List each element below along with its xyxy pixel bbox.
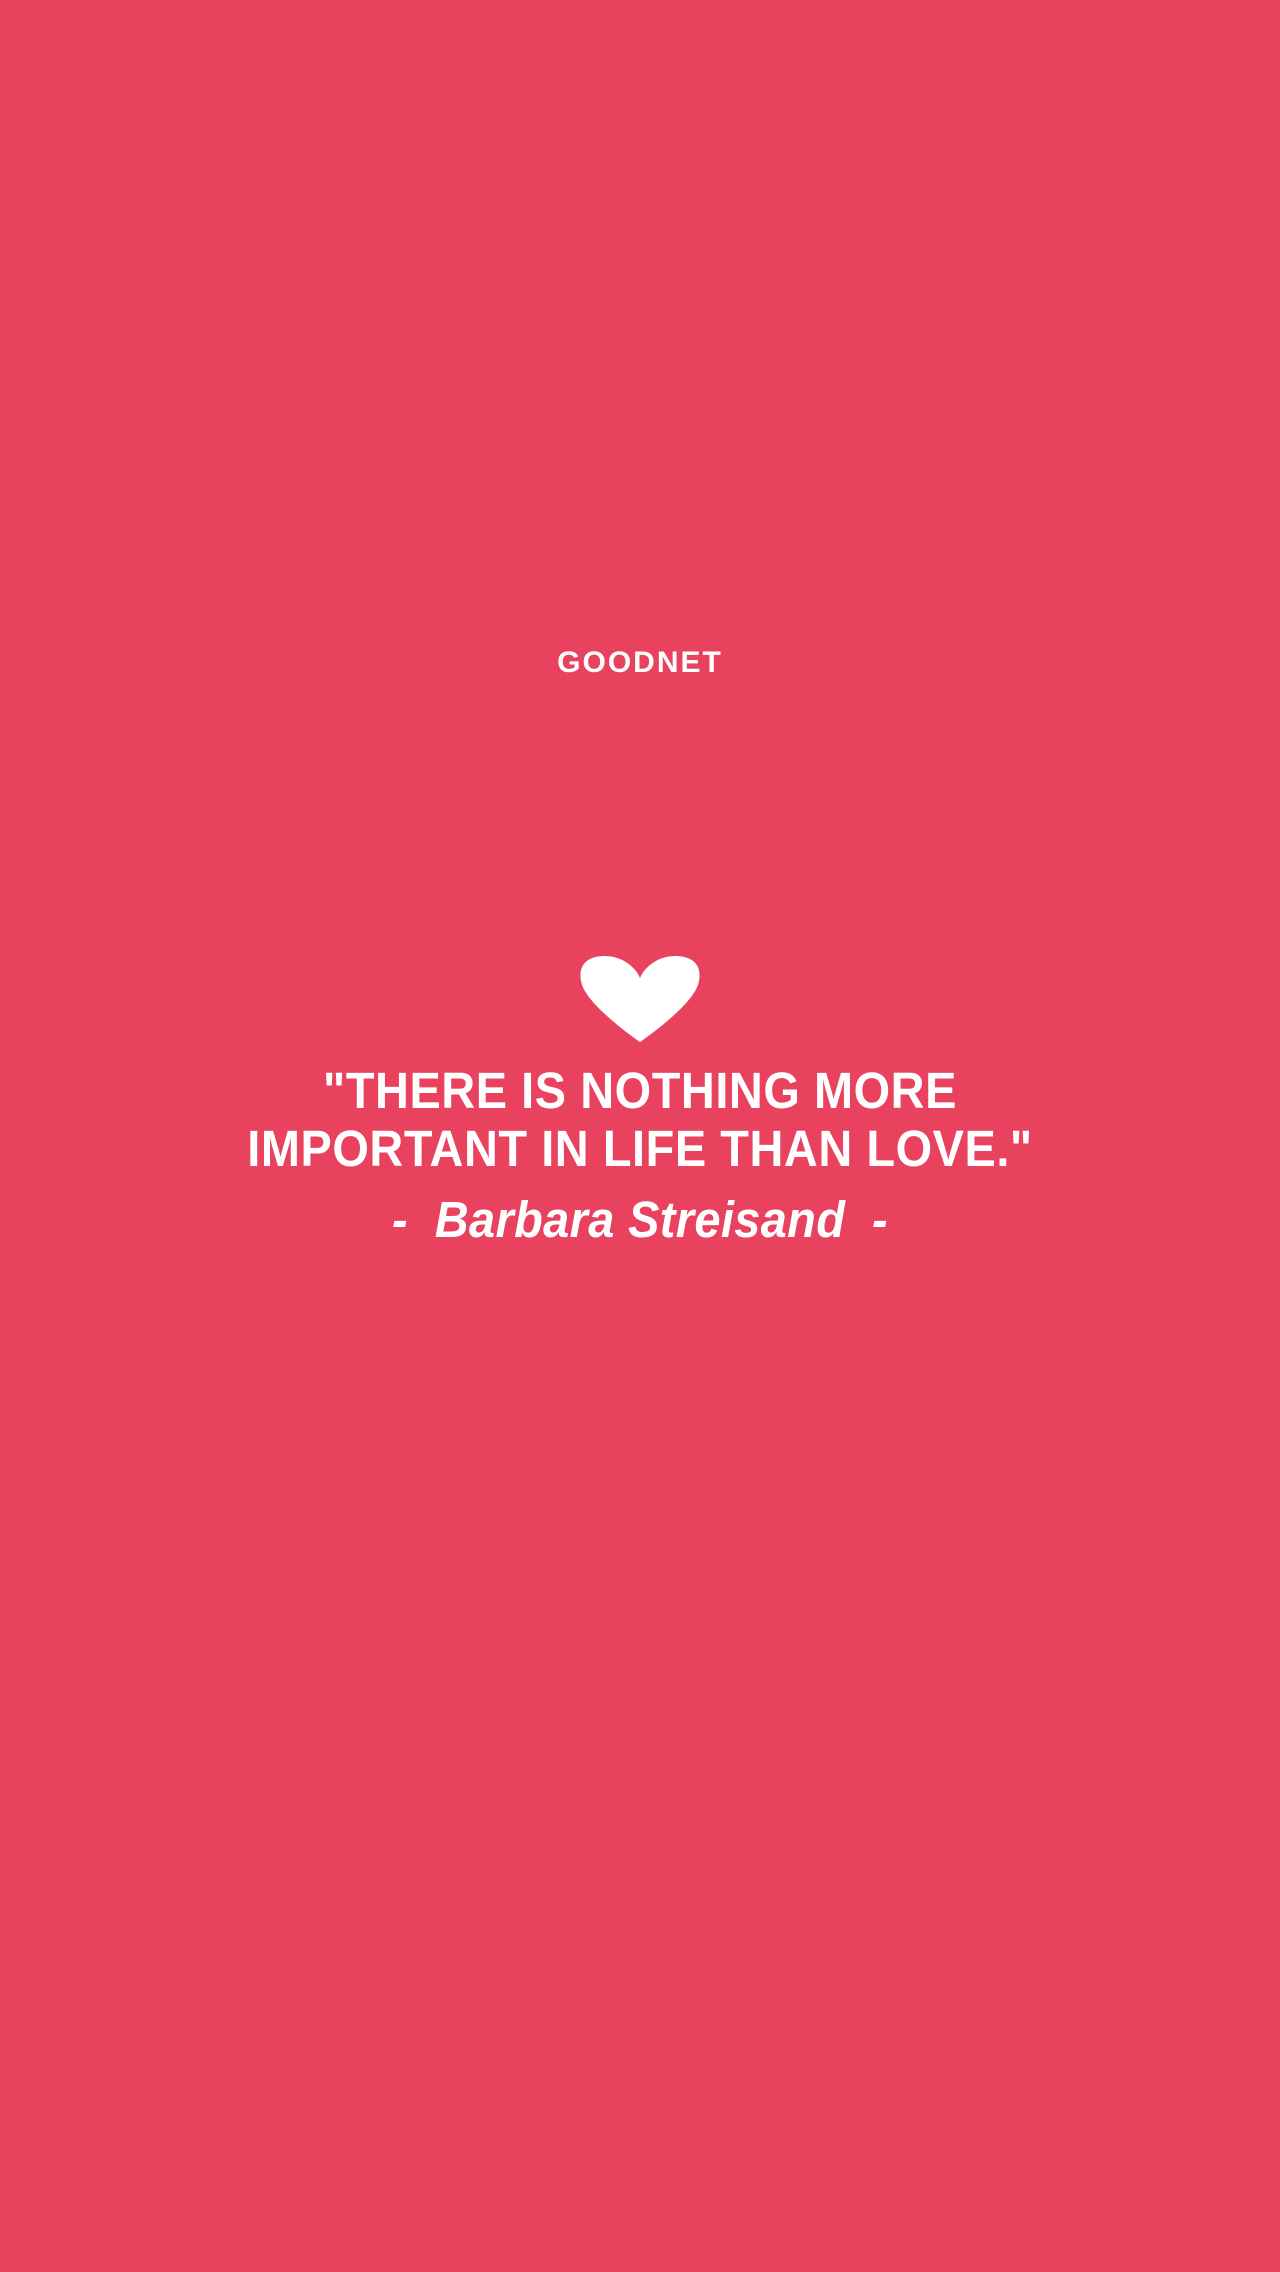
quote-block: "THERE IS NOTHING MORE IMPORTANT IN LIFE…: [0, 1062, 1280, 1250]
heart-icon-container: [0, 956, 1280, 1042]
heart-icon: [579, 956, 701, 1042]
quote-attribution: - Barbara Streisand -: [51, 1190, 1229, 1250]
quote-line-2: IMPORTANT IN LIFE THAN LOVE.": [51, 1120, 1229, 1178]
quote-line-1: "THERE IS NOTHING MORE: [51, 1062, 1229, 1120]
brand-wordmark: GOODNET: [0, 646, 1280, 680]
quote-card: GOODNET "THERE IS NOTHING MORE IMPORTANT…: [0, 0, 1280, 2272]
